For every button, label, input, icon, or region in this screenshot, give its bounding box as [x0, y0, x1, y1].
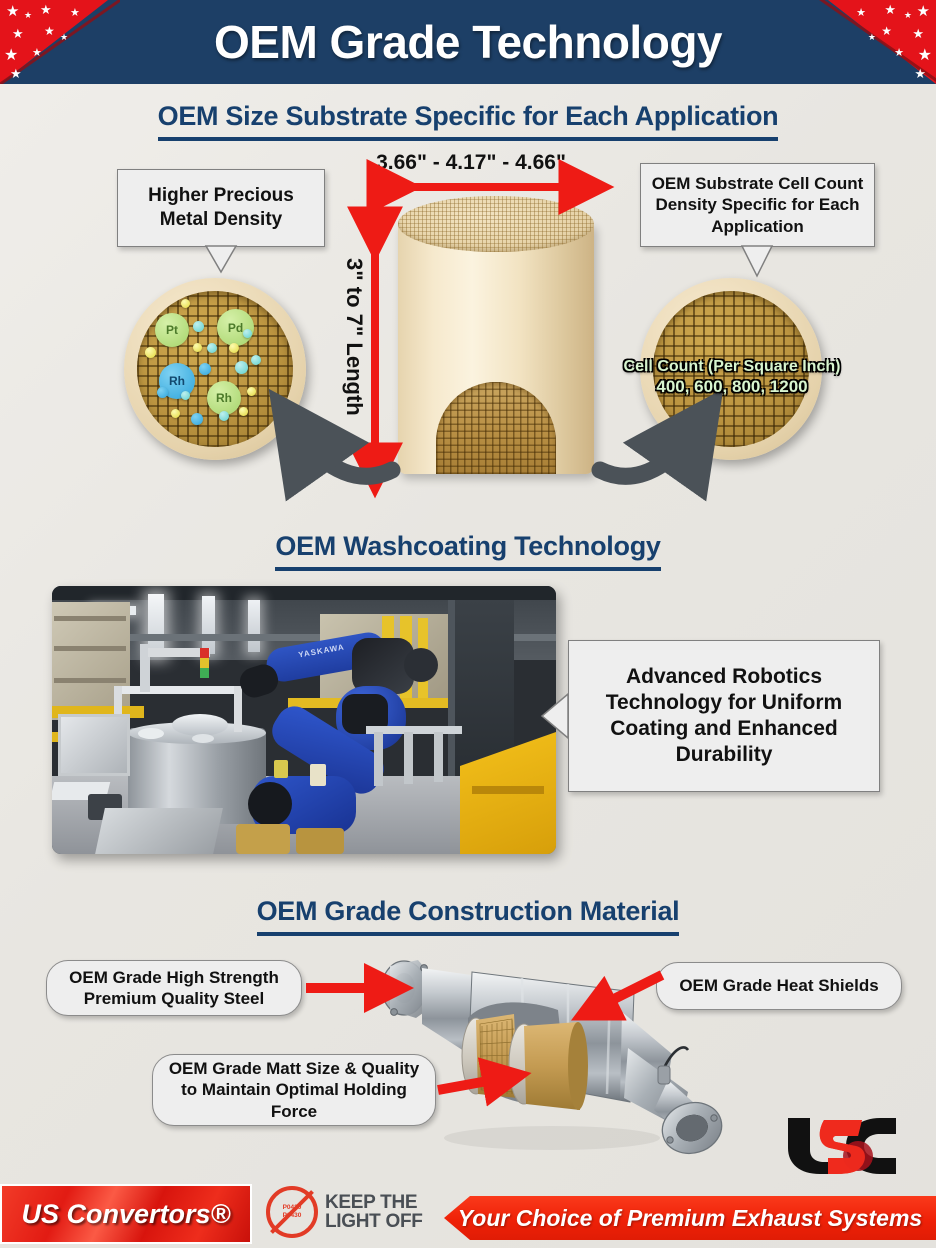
substrate-diameter-label: 3.66" - 4.17" - 4.66" [336, 151, 606, 175]
callout-premium-steel-text: OEM Grade High Strength Premium Quality … [56, 967, 292, 1010]
particle-dot [181, 299, 190, 308]
particle-rh-green: Rh [207, 381, 241, 415]
keep-light-off-text: KEEP THE LIGHT OFF [325, 1193, 423, 1231]
section-heading-construction: OEM Grade Construction Material [0, 896, 936, 936]
section-heading-size-text: OEM Size Substrate Specific for Each App… [158, 101, 779, 141]
callout-cell-count-density: OEM Substrate Cell Count Density Specifi… [640, 163, 875, 247]
callout-premium-steel: OEM Grade High Strength Premium Quality … [46, 960, 302, 1016]
callout-heat-shields: OEM Grade Heat Shields [656, 962, 902, 1010]
substrate-top-face [398, 196, 594, 252]
section-heading-washcoating: OEM Washcoating Technology [0, 531, 936, 571]
particle-dot [243, 329, 252, 338]
page-footer: US Convertors® P0420 P0430 KEEP THE LIGH… [0, 1180, 936, 1248]
keep-light-line2: LIGHT OFF [325, 1212, 423, 1231]
callout-advanced-robotics: Advanced Robotics Technology for Uniform… [568, 640, 880, 792]
particle-dot [207, 343, 217, 353]
callout-higher-precious-metal-density: Higher Precious Metal Density [117, 169, 325, 247]
magnified-circle-precious-metals: Pt Pd Rh Rh [124, 278, 306, 460]
particle-pd: Pd [217, 309, 254, 346]
usc-logo [784, 1114, 912, 1176]
callout-cell-count-density-text: OEM Substrate Cell Count Density Specifi… [650, 173, 865, 237]
washcoating-factory-photo: YASKAWA [52, 586, 556, 854]
particle-dot [235, 361, 248, 374]
cell-count-values: 400, 600, 800, 1200 [612, 377, 852, 397]
substrate-cylinder [398, 196, 594, 496]
particle-dot [191, 413, 203, 425]
particle-dot [239, 407, 248, 416]
particle-dot [145, 347, 156, 358]
particle-dot [157, 387, 168, 398]
section-heading-size: OEM Size Substrate Specific for Each App… [0, 101, 936, 141]
brand-badge: US Convertors® [0, 1184, 252, 1244]
particle-dot [229, 343, 239, 353]
particle-dot [193, 343, 202, 352]
particle-dot [251, 355, 261, 365]
keep-light-line1: KEEP THE [325, 1193, 423, 1212]
tagline-banner: Your Choice of Premium Exhaust Systems [444, 1196, 936, 1240]
section-heading-construction-text: OEM Grade Construction Material [257, 896, 680, 936]
particle-dot [171, 409, 180, 418]
page-header: ★ ★ ★ ★ ★ ★ ★ ★ ★ ★ ★ ★ ★ ★ ★ ★ ★ ★ ★ ★ … [0, 0, 936, 84]
particle-dot [199, 363, 211, 375]
keep-light-off-group: P0420 P0430 KEEP THE LIGHT OFF [266, 1186, 423, 1238]
callout-heat-shields-text: OEM Grade Heat Shields [679, 975, 878, 996]
substrate-cutaway-cells [436, 382, 556, 474]
brand-name: US Convertors® [22, 1199, 231, 1230]
callout-higher-precious-metal-density-text: Higher Precious Metal Density [127, 184, 315, 232]
particle-dot [181, 391, 190, 400]
callout-matt-size-text: OEM Grade Matt Size & Quality to Maintai… [162, 1058, 426, 1122]
particle-dot [247, 387, 256, 396]
page-title: OEM Grade Technology [0, 0, 936, 84]
particle-dot [193, 321, 204, 332]
infographic-page: ★ ★ ★ ★ ★ ★ ★ ★ ★ ★ ★ ★ ★ ★ ★ ★ ★ ★ ★ ★ … [0, 0, 936, 1248]
substrate-length-label: 3" to 7" Length [341, 258, 367, 416]
cell-count-title: Cell Count (Per Square Inch) [612, 358, 852, 376]
callout-matt-size: OEM Grade Matt Size & Quality to Maintai… [152, 1054, 436, 1126]
callout-advanced-robotics-text: Advanced Robotics Technology for Uniform… [578, 664, 870, 769]
particle-pt: Pt [155, 313, 189, 347]
tagline-text: Your Choice of Premium Exhaust Systems [458, 1205, 922, 1232]
particle-dot [219, 411, 229, 421]
no-check-engine-light-icon: P0420 P0430 [266, 1186, 318, 1238]
section-heading-washcoating-text: OEM Washcoating Technology [275, 531, 660, 571]
